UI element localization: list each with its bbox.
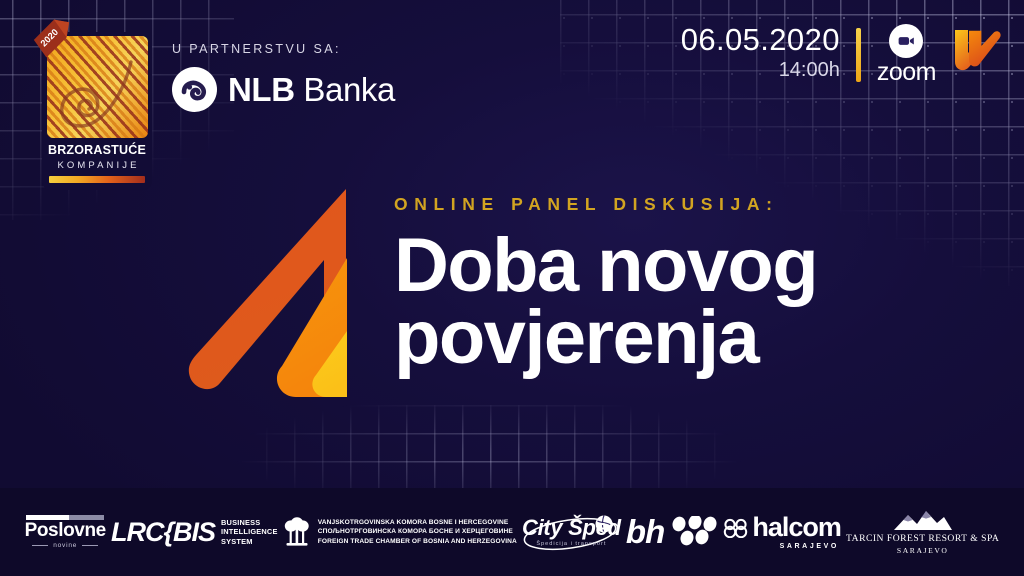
lrc-tagline-2: INTELLIGENCE bbox=[221, 527, 278, 536]
sponsor-logo-bh-telecom[interactable]: bh bbox=[626, 516, 717, 548]
dots-cluster-icon bbox=[671, 516, 717, 548]
poster-canvas: BRZORASTUĆE KOMPANIJE 2020 U PARTNERSTVU… bbox=[0, 0, 1024, 576]
award-badge-accent-bar bbox=[49, 176, 145, 183]
spiral-icon bbox=[57, 56, 135, 134]
vtk-line-2: СПОЉНОТРГОВИНСКА КОМОРА БОСНЕ И ХЕРЦЕГОВ… bbox=[318, 527, 517, 537]
mountain-icon bbox=[890, 509, 956, 531]
award-badge-title: BRZORASTUĆE bbox=[48, 144, 146, 157]
sponsor-logo-city-sped[interactable]: City Šped Špedicija i transport bbox=[522, 517, 621, 547]
headline-kicker: ONLINE PANEL DISKUSIJA: bbox=[394, 196, 994, 214]
rule-left bbox=[32, 545, 48, 546]
award-badge-subtitle: KOMPANIJE bbox=[54, 161, 139, 171]
vtk-line-1: VANJSKOTRGOVINSKA KOMORA BOSNE I HERCEGO… bbox=[318, 518, 517, 528]
city-sped-wordmark: City Šped bbox=[522, 517, 621, 539]
lrc-tagline-3: SYSTEM bbox=[221, 537, 278, 546]
headline-line-2: povjerenja bbox=[394, 302, 994, 375]
tarcin-wordmark: TARCIN FOREST RESORT & SPA bbox=[846, 534, 999, 544]
poslovne-accent-bar bbox=[26, 515, 104, 520]
nlb-name-regular: Banka bbox=[295, 71, 395, 108]
lrc-wordmark: LRC{BIS bbox=[111, 519, 215, 546]
lrc-tagline-1: BUSINESS bbox=[221, 518, 278, 527]
page-title: Doba novog povjerenja bbox=[394, 230, 994, 376]
event-time: 14:00h bbox=[681, 60, 840, 80]
nlb-circle-icon bbox=[172, 67, 217, 112]
lrc-tagline: BUSINESS INTELLIGENCE SYSTEM bbox=[221, 518, 278, 545]
event-date: 06.05.2020 bbox=[681, 24, 840, 57]
award-badge: BRZORASTUĆE KOMPANIJE 2020 bbox=[34, 18, 160, 190]
vtk-text: VANJSKOTRGOVINSKA KOMORA BOSNE I HERCEGO… bbox=[318, 518, 517, 547]
poslovne-wordmark: Poslovne bbox=[25, 521, 106, 541]
poslovne-subtitle-text: novine bbox=[53, 542, 77, 549]
video-camera-icon bbox=[889, 24, 923, 58]
partner-block: U PARTNERSTVU SA: NLB Banka bbox=[172, 42, 395, 112]
nlb-wordmark: NLB Banka bbox=[228, 73, 395, 106]
partner-kicker: U PARTNERSTVU SA: bbox=[172, 42, 395, 56]
ascending-bars-arrow-icon bbox=[186, 186, 381, 406]
rule-right bbox=[82, 545, 98, 546]
vertical-divider bbox=[856, 28, 861, 82]
zoom-logo: zoom bbox=[877, 24, 936, 85]
event-datetime: 06.05.2020 14:00h bbox=[681, 22, 840, 80]
partner-logo: NLB Banka bbox=[172, 67, 395, 112]
tarcin-subtitle: SARAJEVO bbox=[897, 547, 949, 555]
poslovne-subtitle: novine bbox=[32, 542, 98, 549]
sponsor-logo-halcom[interactable]: halcom SARAJEVO bbox=[722, 514, 841, 550]
halcom-88-icon bbox=[722, 518, 748, 538]
sponsor-logo-tarcin-forest-resort[interactable]: TARCIN FOREST RESORT & SPA SARAJEVO bbox=[846, 509, 999, 554]
sponsor-logo-poslovne-novine[interactable]: Poslovne novine bbox=[25, 515, 106, 550]
halcom-subtitle: SARAJEVO bbox=[780, 543, 839, 550]
year-ribbon: 2020 bbox=[32, 18, 76, 60]
city-sped-subtitle: Špedicija i transport bbox=[536, 541, 606, 547]
nlb-name-bold: NLB bbox=[228, 71, 295, 108]
brand-chevron-icon bbox=[952, 26, 1004, 76]
bh-wordmark: bh bbox=[626, 517, 664, 547]
sponsor-bar: Poslovne novine LRC{BIS BUSINESS INTELLI… bbox=[0, 488, 1024, 576]
halcom-wordmark: halcom bbox=[752, 514, 841, 541]
event-meta: 06.05.2020 14:00h zoom bbox=[681, 22, 1004, 85]
sponsor-logo-lrc-bis[interactable]: LRC{BIS BUSINESS INTELLIGENCE SYSTEM bbox=[111, 518, 278, 545]
tree-emblem-icon bbox=[283, 517, 311, 547]
vtk-line-3: FOREIGN TRADE CHAMBER OF BOSNIA AND HERZ… bbox=[318, 537, 517, 547]
zoom-wordmark: zoom bbox=[877, 60, 936, 85]
headline-block: ONLINE PANEL DISKUSIJA: Doba novog povje… bbox=[394, 196, 994, 375]
sponsor-logo-vanjskotrgovinska-komora[interactable]: VANJSKOTRGOVINSKA KOMORA BOSNE I HERCEGO… bbox=[283, 517, 517, 547]
